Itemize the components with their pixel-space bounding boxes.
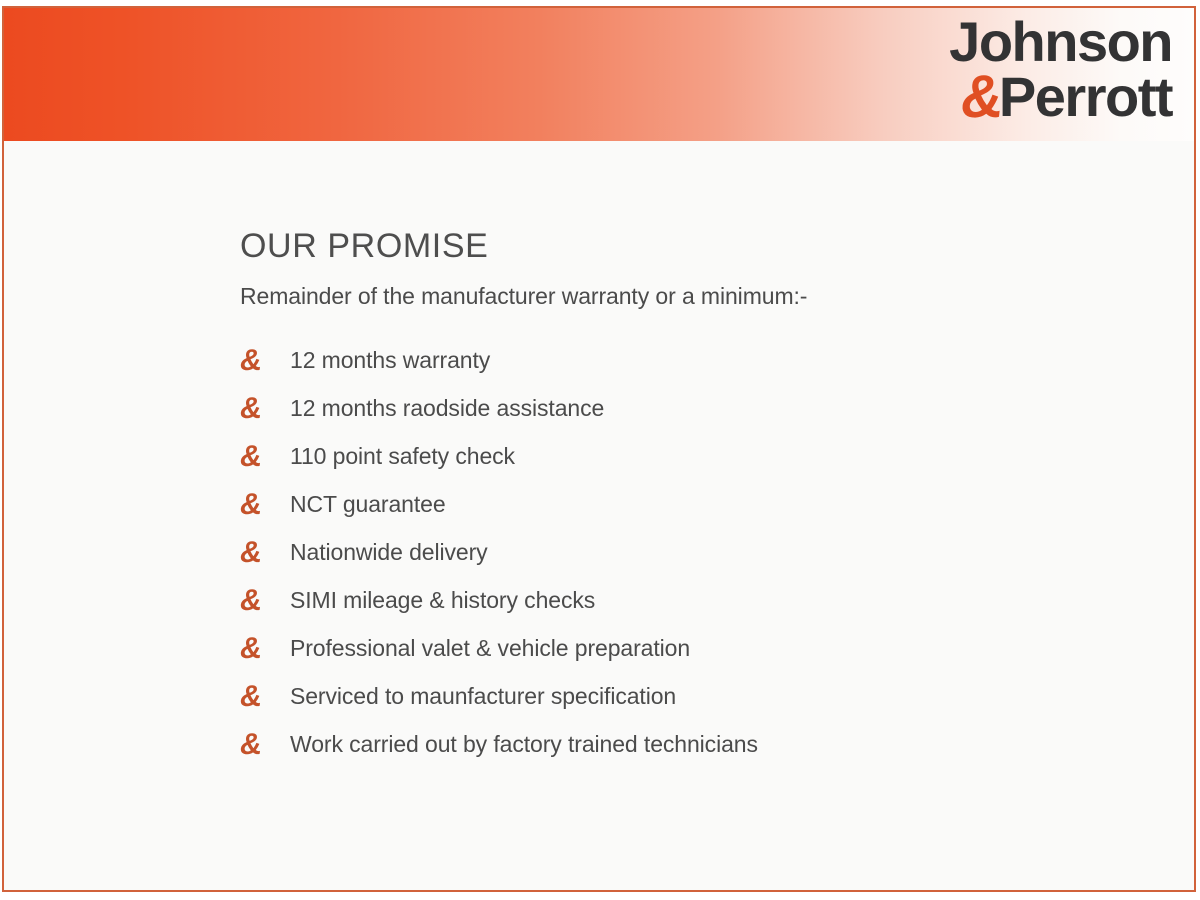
page-title: OUR PROMISE: [240, 228, 1140, 265]
list-item-label: 12 months raodside assistance: [290, 395, 1140, 423]
list-item: & 110 point safety check: [240, 433, 1140, 481]
list-item-label: 110 point safety check: [290, 443, 1140, 471]
ampersand-bullet-icon: &: [238, 682, 276, 712]
list-item: & 12 months warranty: [240, 337, 1140, 385]
brand-logo-line2: &Perrott: [949, 70, 1172, 123]
header-inner: Johnson &Perrott: [4, 8, 1194, 141]
list-item-label: Serviced to maunfacturer specification: [290, 683, 1140, 711]
header-banner: Johnson &Perrott: [4, 8, 1194, 141]
ampersand-icon: &: [958, 68, 1004, 123]
list-item-label: Nationwide delivery: [290, 539, 1140, 567]
brand-logo-line2-text: Perrott: [999, 65, 1172, 128]
page-subtitle: Remainder of the manufacturer warranty o…: [240, 283, 1140, 311]
ampersand-bullet-icon: &: [238, 394, 276, 424]
list-item-label: NCT guarantee: [290, 491, 1140, 519]
promise-list: & 12 months warranty & 12 months raodsid…: [240, 337, 1140, 769]
ampersand-bullet-icon: &: [238, 586, 276, 616]
ampersand-bullet-icon: &: [238, 346, 276, 376]
list-item: & NCT guarantee: [240, 481, 1140, 529]
ampersand-bullet-icon: &: [238, 442, 276, 472]
ampersand-bullet-icon: &: [238, 730, 276, 760]
promise-poster: Johnson &Perrott OUR PROMISE Remainder o…: [2, 6, 1196, 892]
content-area: OUR PROMISE Remainder of the manufacture…: [240, 228, 1140, 769]
brand-logo: Johnson &Perrott: [949, 16, 1172, 123]
ampersand-bullet-icon: &: [238, 634, 276, 664]
list-item: & Professional valet & vehicle preparati…: [240, 625, 1140, 673]
list-item: & 12 months raodside assistance: [240, 385, 1140, 433]
list-item: & Nationwide delivery: [240, 529, 1140, 577]
ampersand-bullet-icon: &: [238, 538, 276, 568]
brand-logo-line1: Johnson: [949, 16, 1172, 68]
list-item-label: 12 months warranty: [290, 347, 1140, 375]
list-item: & Serviced to maunfacturer specification: [240, 673, 1140, 721]
ampersand-bullet-icon: &: [238, 490, 276, 520]
list-item: & Work carried out by factory trained te…: [240, 721, 1140, 769]
list-item: & SIMI mileage & history checks: [240, 577, 1140, 625]
list-item-label: Work carried out by factory trained tech…: [290, 731, 1140, 759]
list-item-label: SIMI mileage & history checks: [290, 587, 1140, 615]
list-item-label: Professional valet & vehicle preparation: [290, 635, 1140, 663]
